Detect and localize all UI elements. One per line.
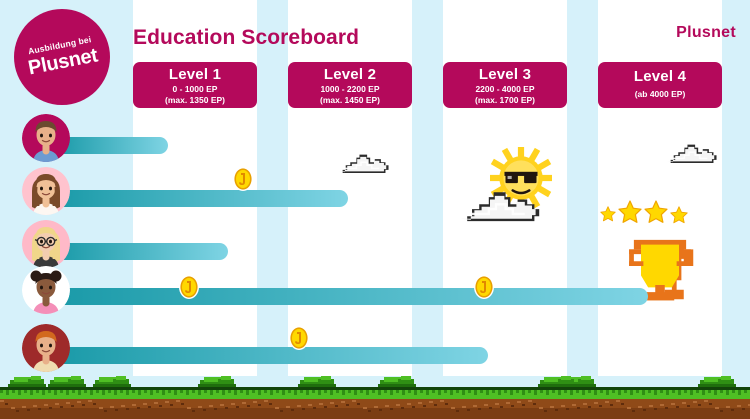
avatar-female-buns bbox=[22, 266, 70, 314]
level-2-max: (max. 1450 EP) bbox=[288, 95, 412, 106]
level-3-range: 2200 - 4000 EP bbox=[443, 84, 567, 95]
level-3-max: (max. 1700 EP) bbox=[443, 95, 567, 106]
education-scoreboard-infographic: Education Scoreboard Plusnet Ausbildung … bbox=[0, 0, 750, 419]
level-2-range: 1000 - 2200 EP bbox=[288, 84, 412, 95]
level-column-4 bbox=[598, 0, 722, 376]
progress-bar-row-3 bbox=[56, 243, 228, 260]
level-header-4: Level 4 (ab 4000 EP) bbox=[598, 62, 722, 108]
level-1-max: (max. 1350 EP) bbox=[133, 95, 257, 106]
level-4-range: (ab 4000 EP) bbox=[598, 88, 722, 101]
cloud-level2 bbox=[330, 150, 392, 181]
level-3-title: Level 3 bbox=[443, 66, 567, 84]
plusnet-logo-badge: Ausbildung bei Plusnet bbox=[14, 9, 110, 105]
level-1-range: 0 - 1000 EP bbox=[133, 84, 257, 95]
level-1-title: Level 1 bbox=[133, 66, 257, 84]
level-header-1: Level 1 0 - 1000 EP (max. 1350 EP) bbox=[133, 62, 257, 108]
level-column-2 bbox=[288, 0, 412, 376]
star-icon-3 bbox=[644, 200, 668, 229]
progress-bar-row-4 bbox=[56, 288, 648, 305]
coin-level2-row5 bbox=[288, 325, 310, 351]
coin-level3-row4 bbox=[473, 274, 495, 300]
coin-level1-row4 bbox=[178, 274, 200, 300]
level-4-title: Level 4 bbox=[598, 66, 722, 88]
star-icon-2 bbox=[618, 200, 642, 229]
avatar-female-long-hair bbox=[22, 167, 70, 215]
cloud-level3 bbox=[448, 185, 544, 231]
avatar-female-glasses bbox=[22, 220, 70, 268]
star-icon-4 bbox=[670, 206, 688, 229]
progress-bar-row-5 bbox=[56, 347, 488, 364]
avatar-male-orange-hair bbox=[22, 324, 70, 372]
ground-strip bbox=[0, 376, 750, 419]
star-icon-1 bbox=[600, 206, 616, 227]
plusnet-wordmark: Plusnet bbox=[676, 24, 736, 42]
coin-level1-row2 bbox=[232, 166, 254, 192]
cloud-level4 bbox=[658, 140, 720, 171]
stars-level4 bbox=[600, 200, 688, 229]
avatar-male-blue-shirt bbox=[22, 114, 70, 162]
page-title: Education Scoreboard bbox=[133, 26, 359, 50]
level-header-2: Level 2 1000 - 2200 EP (max. 1450 EP) bbox=[288, 62, 412, 108]
level-2-title: Level 2 bbox=[288, 66, 412, 84]
level-header-3: Level 3 2200 - 4000 EP (max. 1700 EP) bbox=[443, 62, 567, 108]
progress-bar-row-1 bbox=[56, 137, 168, 154]
progress-bar-row-2 bbox=[56, 190, 348, 207]
